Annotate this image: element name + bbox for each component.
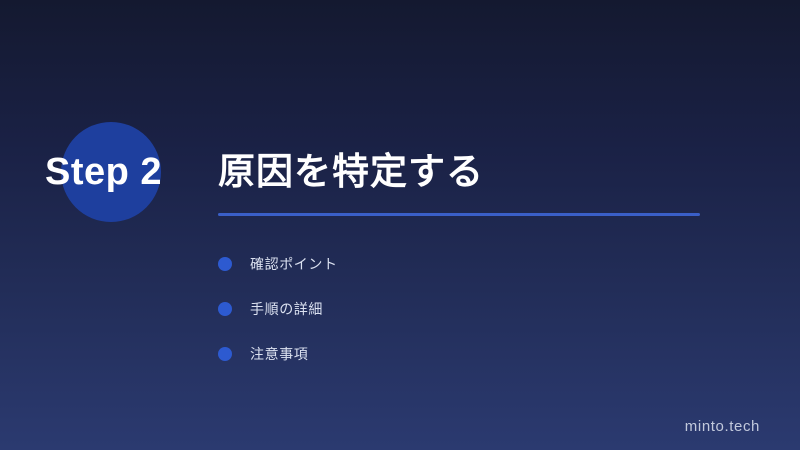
list-item-label: 注意事項 bbox=[250, 344, 308, 364]
list-item: 手順の詳細 bbox=[218, 286, 718, 331]
list-item: 確認ポイント bbox=[218, 241, 718, 286]
footer-brand: minto.tech bbox=[685, 418, 760, 435]
list-item: 注意事項 bbox=[218, 331, 718, 376]
list-item-label: 手順の詳細 bbox=[250, 299, 323, 319]
bullet-dot-icon bbox=[218, 347, 232, 361]
bullet-dot-icon bbox=[218, 302, 232, 316]
bullet-dot-icon bbox=[218, 257, 232, 271]
step-label: Step 2 bbox=[45, 153, 162, 191]
page-title: 原因を特定する bbox=[218, 152, 484, 193]
presentation-slide: Step 2 原因を特定する 確認ポイント 手順の詳細 注意事項 minto.t… bbox=[0, 0, 800, 450]
bullet-list: 確認ポイント 手順の詳細 注意事項 bbox=[218, 241, 718, 376]
title-divider bbox=[218, 213, 700, 216]
list-item-label: 確認ポイント bbox=[250, 254, 338, 274]
slide-header: Step 2 原因を特定する bbox=[0, 0, 800, 450]
